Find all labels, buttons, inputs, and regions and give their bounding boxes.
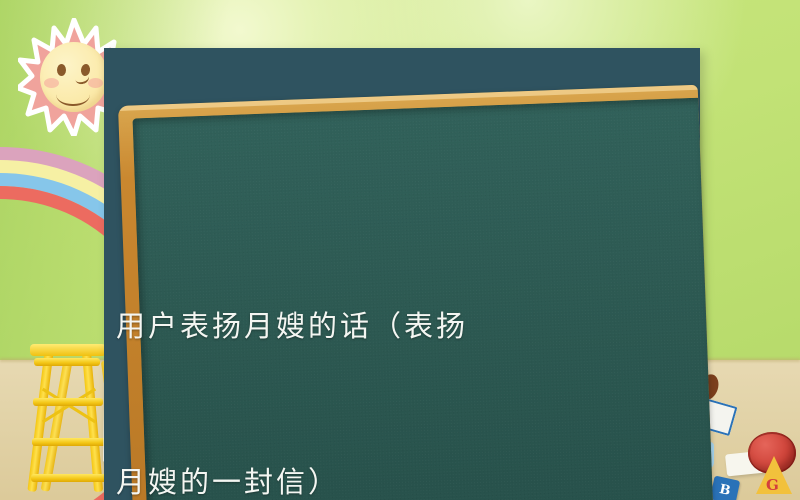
sun-face <box>40 42 108 112</box>
sun-eye-left <box>57 64 66 76</box>
sun-smile <box>56 82 90 106</box>
article-thumbnail-banner: A B C A E D C B G 用户表扬月嫂的话 <box>0 0 800 500</box>
ladder-rung <box>32 438 108 446</box>
ladder-rung <box>31 474 113 482</box>
sun-cheek-right <box>88 78 103 88</box>
ladder-rung <box>33 398 103 406</box>
ladder-top-platform <box>30 344 106 356</box>
alphabet-block: B <box>710 476 740 500</box>
chalkboard-title-line-1: 用户表扬月嫂的话（表扬 <box>116 300 676 352</box>
triangle-block-letter: G <box>766 476 779 494</box>
chalkboard-title-text: 用户表扬月嫂的话（表扬 月嫂的一封信） <box>116 196 676 500</box>
chalkboard-title-line-2: 月嫂的一封信） <box>116 456 676 500</box>
ladder-rung <box>34 358 100 366</box>
